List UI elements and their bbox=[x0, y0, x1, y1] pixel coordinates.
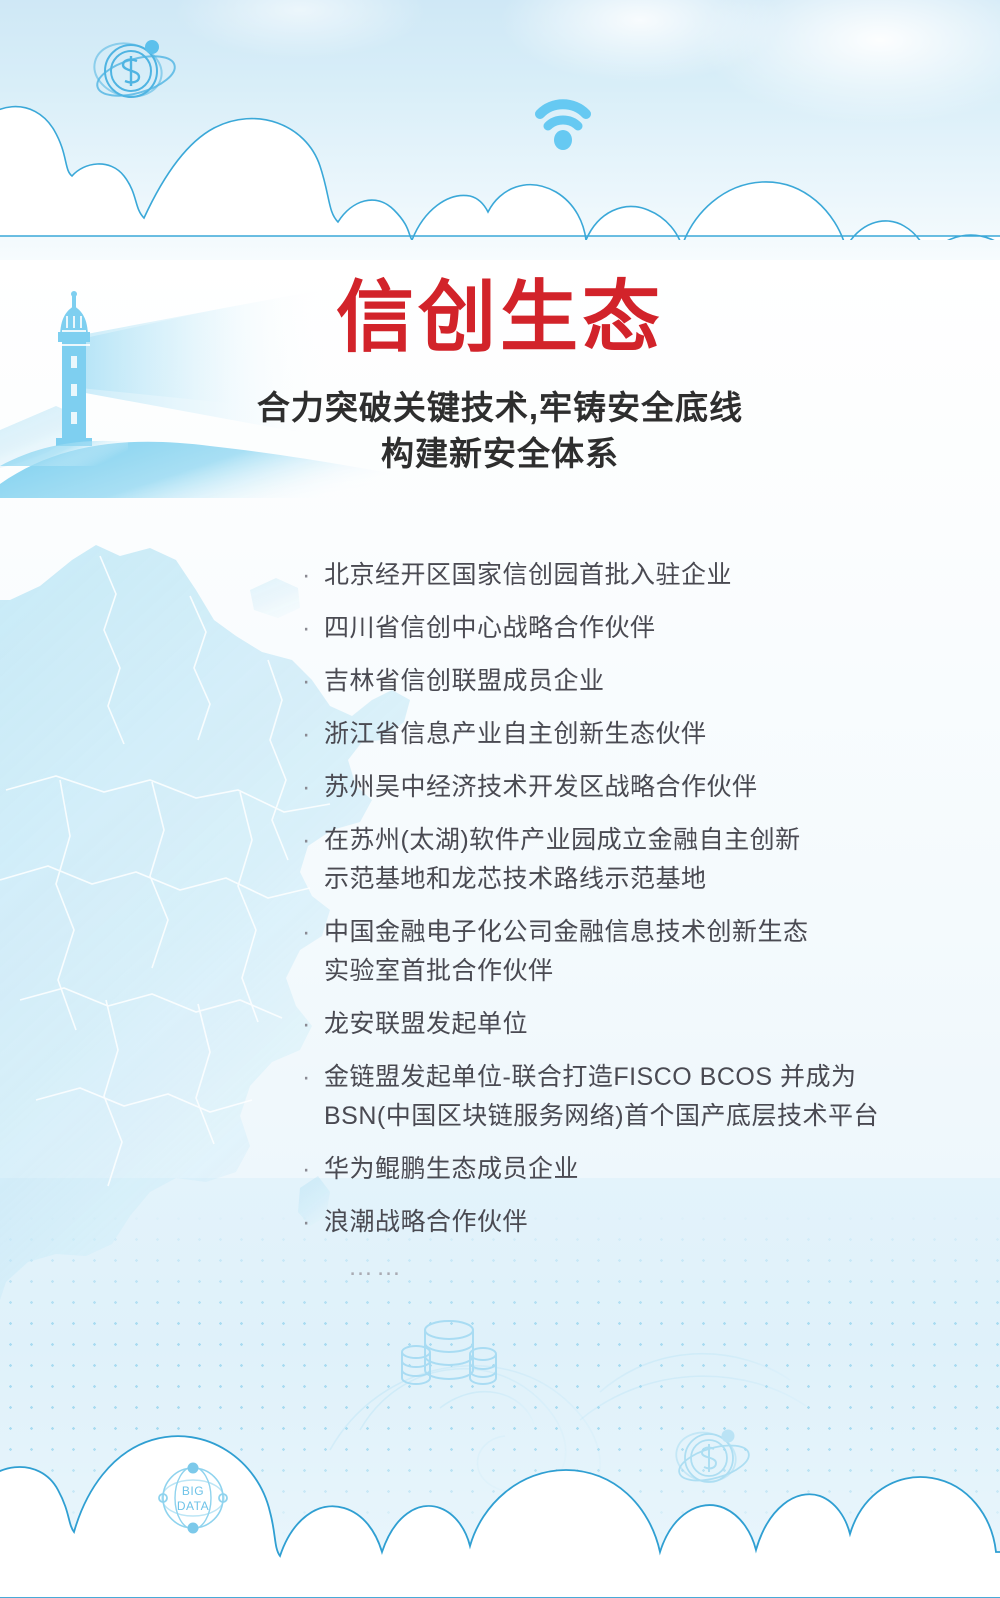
list-item: · 龙安联盟发起单位 bbox=[300, 1005, 940, 1044]
list-item-line: 华为鲲鹏生态成员企业 bbox=[324, 1150, 940, 1189]
bullet-marker: · bbox=[302, 1150, 311, 1189]
list-item-line: 金链盟发起单位-联合打造FISCO BCOS 并成为 bbox=[324, 1058, 940, 1097]
bullet-marker: · bbox=[302, 662, 311, 701]
list-item-line: 北京经开区国家信创园首批入驻企业 bbox=[324, 556, 940, 595]
list-item: · 在苏州(太湖)软件产业园成立金融自主创新 示范基地和龙芯技术路线示范基地 bbox=[300, 821, 940, 899]
list-item-line: 苏州吴中经济技术开发区战略合作伙伴 bbox=[324, 768, 940, 807]
list-item-line: BSN(中国区块链服务网络)首个国产底层技术平台 bbox=[324, 1097, 940, 1136]
bullet-marker: · bbox=[302, 1005, 311, 1044]
bullet-marker: · bbox=[302, 1058, 311, 1097]
list-item-line: 吉林省信创联盟成员企业 bbox=[324, 662, 940, 701]
bullet-marker: · bbox=[302, 715, 311, 754]
list-item: · 金链盟发起单位-联合打造FISCO BCOS 并成为 BSN(中国区块链服务… bbox=[300, 1058, 940, 1136]
bullet-marker: · bbox=[302, 821, 311, 860]
list-item: · 北京经开区国家信创园首批入驻企业 bbox=[300, 556, 940, 595]
subtitle-line-1: 合力突破关键技术,牢铸安全底线 bbox=[0, 385, 1000, 431]
subtitle-line-2: 构建新安全体系 bbox=[0, 431, 1000, 477]
list-item-line: 龙安联盟发起单位 bbox=[324, 1005, 940, 1044]
bullet-marker: · bbox=[302, 1203, 311, 1242]
bullet-marker: · bbox=[302, 913, 311, 952]
list-item-line: 中国金融电子化公司金融信息技术创新生态 bbox=[324, 913, 940, 952]
list-item: · 浪潮战略合作伙伴 bbox=[300, 1203, 940, 1242]
list-item: · 苏州吴中经济技术开发区战略合作伙伴 bbox=[300, 768, 940, 807]
list-item: · 四川省信创中心战略合作伙伴 bbox=[300, 609, 940, 648]
page-title: 信创生态 bbox=[0, 272, 1000, 362]
list-ellipsis: …… bbox=[300, 1250, 940, 1284]
list-item: · 吉林省信创联盟成员企业 bbox=[300, 662, 940, 701]
list-item: · 中国金融电子化公司金融信息技术创新生态 实验室首批合作伙伴 bbox=[300, 913, 940, 991]
bullet-marker: · bbox=[302, 768, 311, 807]
list-item-line: 浪潮战略合作伙伴 bbox=[324, 1203, 940, 1242]
poster-content: 信创生态 合力突破关键技术,牢铸安全底线 构建新安全体系 · 北京经开区国家信创… bbox=[0, 0, 1000, 1598]
bullet-marker: · bbox=[302, 556, 311, 595]
list-item: · 浙江省信息产业自主创新生态伙伴 bbox=[300, 715, 940, 754]
poster-canvas: BIG DATA 信创生态 合力突破关键技术,牢铸安全底线 构建新安全体系 · … bbox=[0, 0, 1000, 1598]
bullet-marker: · bbox=[302, 609, 311, 648]
list-item-line: 在苏州(太湖)软件产业园成立金融自主创新 bbox=[324, 821, 940, 860]
achievement-list: · 北京经开区国家信创园首批入驻企业 · 四川省信创中心战略合作伙伴 · 吉林省… bbox=[300, 556, 940, 1284]
list-item-line: 浙江省信息产业自主创新生态伙伴 bbox=[324, 715, 940, 754]
list-item-line: 示范基地和龙芯技术路线示范基地 bbox=[324, 860, 940, 899]
list-item: · 华为鲲鹏生态成员企业 bbox=[300, 1150, 940, 1189]
list-item-line: 四川省信创中心战略合作伙伴 bbox=[324, 609, 940, 648]
list-item-line: 实验室首批合作伙伴 bbox=[324, 952, 940, 991]
page-subtitle: 合力突破关键技术,牢铸安全底线 构建新安全体系 bbox=[0, 385, 1000, 477]
